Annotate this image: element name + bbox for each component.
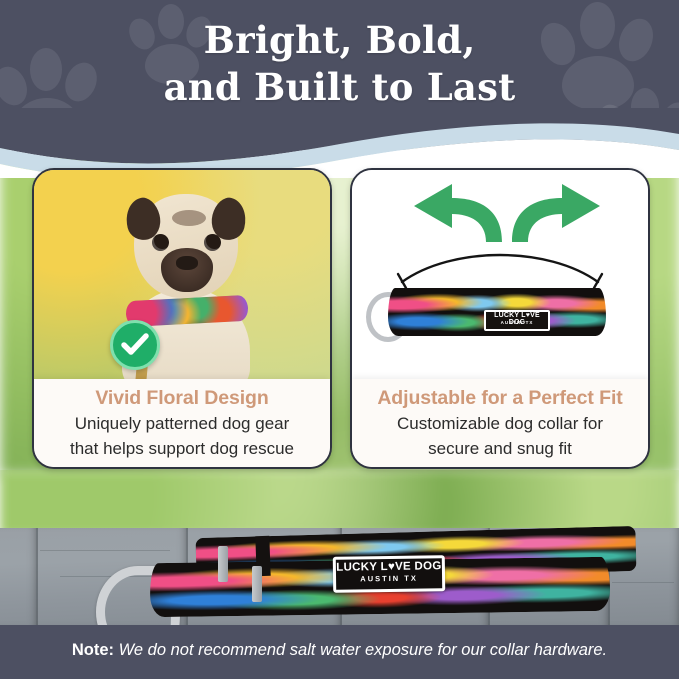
pug-eye-right <box>204 234 221 251</box>
feature-card-adjustable-perfect-fit[interactable]: LUCKY L♥VE DOG AUSTIN TX Adjustable for … <box>350 168 650 469</box>
title-line-1: Bright, Bold, <box>204 18 476 62</box>
product-infographic: Bright, Bold, and Built to Last <box>0 0 679 679</box>
note-label: Note: <box>72 641 114 659</box>
collar-slider <box>218 546 228 582</box>
pug-muzzle <box>161 248 213 292</box>
footer-note-banner: Note: We do not recommend salt water exp… <box>0 625 679 679</box>
card-title: Vivid Floral Design <box>34 387 330 410</box>
brand-label-line-1: LUCKY L♥VE DOG <box>336 560 442 573</box>
pug-eye-left <box>152 234 169 251</box>
brand-label: LUCKY L♥VE DOG AUSTIN TX <box>333 555 445 593</box>
green-check-icon <box>110 320 160 370</box>
card-description-line-2: that helps support dog rescue <box>42 438 322 460</box>
wood-plank <box>0 528 38 625</box>
brand-label-line-2: AUSTIN TX <box>336 573 442 583</box>
card-text-panel: Vivid Floral Design Uniquely patterned d… <box>34 379 330 467</box>
card-text-panel: Adjustable for a Perfect Fit Customizabl… <box>352 379 648 467</box>
card-description-line-1: Uniquely patterned dog gear <box>42 413 322 435</box>
adjustable-illustration: LUCKY L♥VE DOG AUSTIN TX <box>352 170 648 385</box>
wood-grain <box>40 550 170 551</box>
pug-nose <box>176 256 198 270</box>
brand-label-line-2: AUSTIN TX <box>486 320 548 325</box>
wood-grain <box>612 582 674 583</box>
card-description-line-2: secure and snug fit <box>360 438 640 460</box>
pug-photo <box>34 170 330 385</box>
page-title: Bright, Bold, and Built to Last <box>0 17 679 112</box>
note-text: We do not recommend salt water exposure … <box>114 641 607 659</box>
card-description-line-1: Customizable dog collar for <box>360 413 640 435</box>
feature-card-vivid-floral-design[interactable]: Vivid Floral Design Uniquely patterned d… <box>32 168 332 469</box>
title-line-2: and Built to Last <box>0 64 679 111</box>
pug-brow <box>172 210 206 226</box>
hero-product-photo <box>0 470 679 625</box>
background-foliage <box>0 470 679 536</box>
footer-note: Note: We do not recommend salt water exp… <box>0 641 679 660</box>
collar-slider <box>252 566 262 602</box>
card-title: Adjustable for a Perfect Fit <box>352 387 648 410</box>
brand-label: LUCKY L♥VE DOG AUSTIN TX <box>484 310 550 331</box>
